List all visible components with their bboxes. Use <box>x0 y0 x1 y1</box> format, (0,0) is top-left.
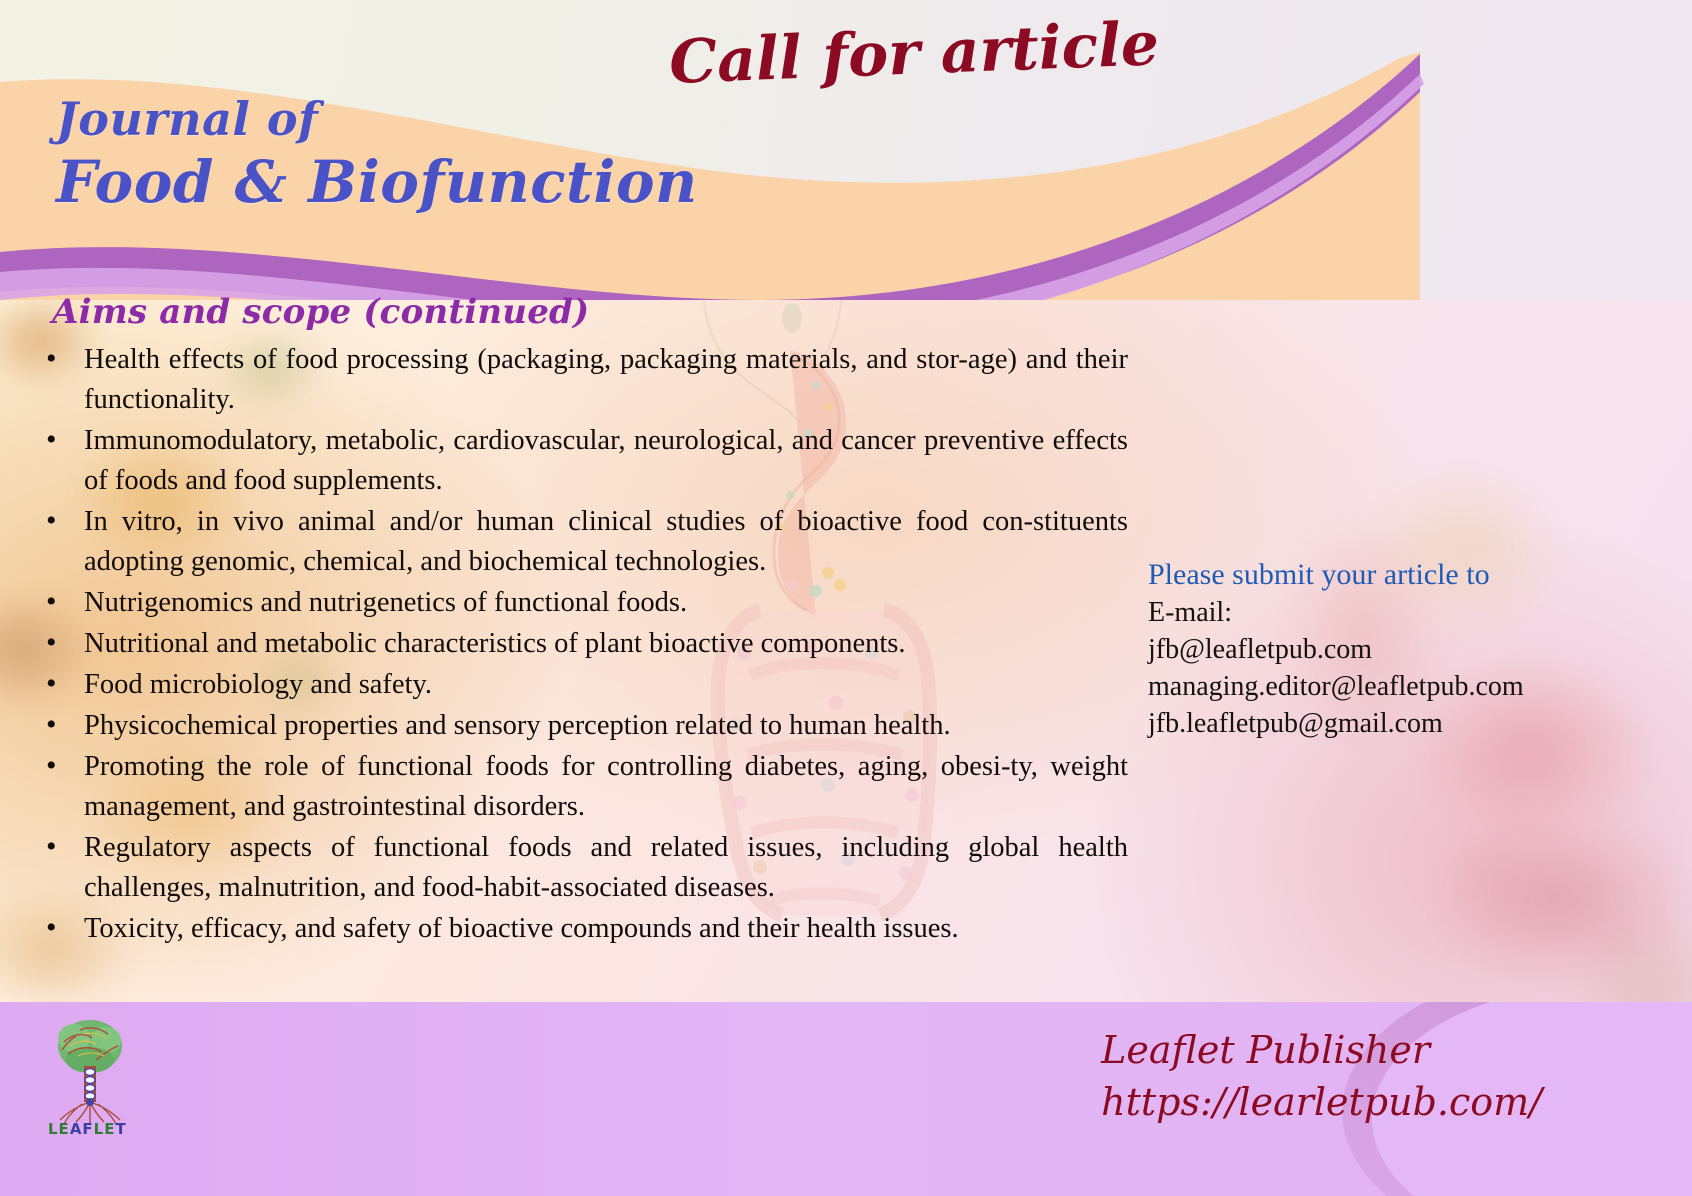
leaflet-tree-logo-icon <box>44 1016 136 1128</box>
journal-of-label: Journal of <box>56 92 318 146</box>
publisher-name: Leaflet Publisher <box>1101 1024 1542 1076</box>
publisher-url[interactable]: https://learletpub.com/ <box>1101 1076 1542 1128</box>
aims-and-scope-heading: Aims and scope (continued) <box>52 292 589 332</box>
list-item: Nutrigenomics and nutrigenetics of funct… <box>38 583 1128 623</box>
poster-canvas: Call for article Journal of Food & Biofu… <box>0 0 1692 1196</box>
publisher-info: Leaflet Publisher https://learletpub.com… <box>1101 1024 1542 1128</box>
email-label: E-mail: <box>1148 594 1578 631</box>
email-address-primary[interactable]: jfb@leafletpub.com <box>1148 631 1578 668</box>
list-item: In vitro, in vivo animal and/or human cl… <box>38 502 1128 582</box>
list-item: Physicochemical properties and sensory p… <box>38 706 1128 746</box>
submission-info-block: Please submit your article to E-mail: jf… <box>1148 556 1578 742</box>
list-item: Nutritional and metabolic characteristic… <box>38 624 1128 664</box>
list-item: Toxicity, efficacy, and safety of bioact… <box>38 909 1128 949</box>
list-item: Immunomodulatory, metabolic, cardiovascu… <box>38 421 1128 501</box>
logo-word-part-3: LE <box>94 1120 116 1138</box>
logo-word-part-2: AF <box>70 1120 94 1138</box>
aims-bullet-list: Health effects of food processing (packa… <box>38 340 1128 950</box>
footer-band: LEAFLET Leaflet Publisher https://learle… <box>0 1002 1692 1196</box>
logo-word-part-1: LE <box>48 1120 70 1138</box>
header-banner: Call for article Journal of Food & Biofu… <box>0 0 1692 300</box>
leaflet-logo-wordmark: LEAFLET <box>48 1120 127 1138</box>
list-item: Food microbiology and safety. <box>38 665 1128 705</box>
email-address-gmail[interactable]: jfb.leafletpub@gmail.com <box>1148 705 1578 742</box>
list-item: Regulatory aspects of functional foods a… <box>38 828 1128 908</box>
logo-word-part-4: T <box>115 1120 126 1138</box>
journal-name-title: Food & Biofunction <box>56 148 698 216</box>
list-item: Promoting the role of functional foods f… <box>38 747 1128 827</box>
email-address-managing-editor[interactable]: managing.editor@leafletpub.com <box>1148 668 1578 705</box>
submit-heading: Please submit your article to <box>1148 556 1578 594</box>
list-item: Health effects of food processing (packa… <box>38 340 1128 420</box>
